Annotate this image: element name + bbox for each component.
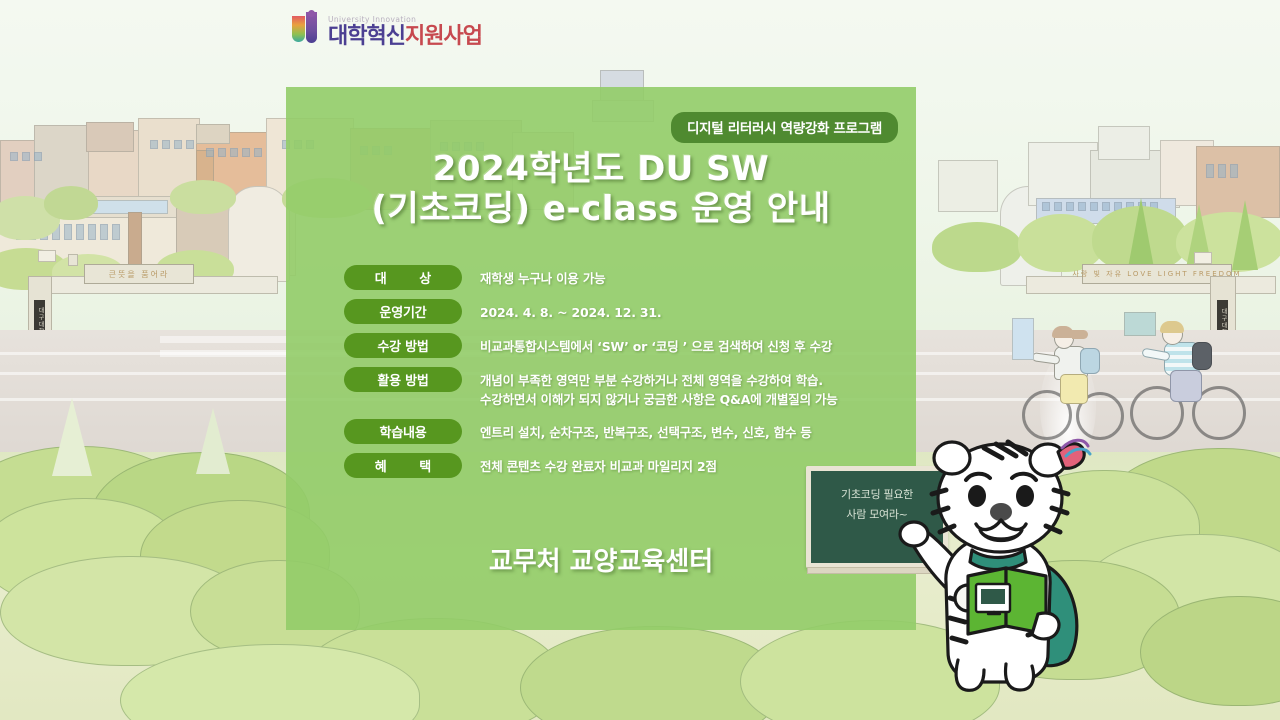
building: [196, 124, 230, 144]
info-row-value: 2024. 4. 8. ~ 2024. 12. 31.: [480, 299, 661, 322]
left-gate-sign-text: 큰뜻을 품어라: [109, 269, 170, 280]
cyclist-backpack: [1192, 342, 1212, 370]
info-row-value: 전체 콘텐츠 수강 완료자 비교과 마일리지 2점: [480, 453, 717, 476]
conifer-tree: [1232, 200, 1258, 270]
info-row-value: 개념이 부족한 영역만 부분 수강하거나 전체 영역을 수강하여 학습. 수강하…: [480, 367, 838, 410]
tiger-eye: [1016, 485, 1034, 507]
logo-mark-icon: [292, 12, 322, 48]
logo-text: University Innovation 대학혁신지원사업: [328, 16, 482, 49]
info-row-value: 엔트리 설치, 순차구조, 반복구조, 선택구조, 변수, 신호, 함수 등: [480, 419, 812, 442]
info-row-label: 혜 택: [344, 453, 462, 478]
university-innovation-logo: University Innovation 대학혁신지원사업: [292, 12, 482, 48]
info-row: 운영기간 2024. 4. 8. ~ 2024. 12. 31.: [344, 299, 904, 324]
building: [1028, 142, 1098, 206]
computer-screen: [981, 589, 1005, 604]
logo-u-shape: [292, 16, 305, 42]
tiger-ear: [934, 442, 970, 474]
cyclist-hair: [1160, 321, 1184, 333]
cyclist-backpack: [1080, 348, 1100, 374]
tiger-raised-paw: [900, 522, 928, 546]
building: [86, 122, 134, 152]
cyclist-with-ponytail: [1020, 318, 1140, 448]
tiger-eye: [968, 485, 986, 507]
conifer-tree: [196, 408, 230, 474]
logo-korean-text: 대학혁신지원사업: [328, 26, 482, 48]
tiger-nose: [990, 503, 1012, 521]
tree: [932, 222, 1022, 272]
tiger-mascot: [880, 438, 1110, 700]
logo-korean-primary: 대학혁신: [328, 24, 405, 49]
building: [1098, 126, 1150, 160]
window-row: [1206, 164, 1238, 178]
info-row: 수강 방법 비교과통합시스템에서 ‘SW’ or ‘코딩 ’ 으로 검색하여 신…: [344, 333, 904, 358]
cyclist-ponytail: [1072, 330, 1088, 339]
tree: [44, 186, 98, 220]
logo-dot: [308, 10, 315, 17]
tiger-holding-paw: [1032, 613, 1059, 639]
right-gate-lamp: [1194, 252, 1212, 264]
poster-canvas: 큰뜻을 품어라 대구대학교 사랑 빛 자유 LOVE LIGHT FREEDOM…: [0, 0, 1280, 720]
title-line-1: 2024학년도 DU SW: [433, 149, 769, 189]
info-row: 대 상 재학생 누구나 이용 가능: [344, 265, 904, 290]
window-row: [150, 140, 194, 149]
title-line-2: (기초코딩) e-class 운영 안내: [286, 189, 916, 229]
logo-korean-secondary: 지원사업: [405, 24, 482, 49]
cylindrical-building: [228, 186, 290, 282]
info-rows-list: 대 상 재학생 누구나 이용 가능 운영기간 2024. 4. 8. ~ 202…: [344, 265, 904, 478]
info-row-label: 수강 방법: [344, 333, 462, 358]
cyclist-hair: [1052, 326, 1074, 338]
info-row-value: 재학생 누구나 이용 가능: [480, 265, 605, 288]
cyclist-legs: [1060, 374, 1088, 404]
building: [938, 160, 998, 212]
conifer-tree: [52, 398, 92, 476]
building: [128, 212, 142, 270]
page-title: 2024학년도 DU SW (기초코딩) e-class 운영 안내: [286, 149, 916, 229]
info-row-label: 활용 방법: [344, 367, 462, 392]
cyclist-legs: [1170, 370, 1202, 402]
left-gate-sign-plate: 큰뜻을 품어라: [84, 264, 194, 284]
tiger-leg: [1006, 664, 1034, 690]
info-row-label: 학습내용: [344, 419, 462, 444]
logo-english-text: University Innovation: [328, 16, 482, 24]
info-row-label: 대 상: [344, 265, 462, 290]
tree: [170, 180, 236, 214]
left-gate-lamp: [38, 250, 56, 262]
info-row-label: 운영기간: [344, 299, 462, 324]
window-row: [206, 148, 262, 157]
conifer-tree: [1128, 198, 1154, 268]
program-badge: 디지털 리터러시 역량강화 프로그램: [671, 112, 898, 143]
notice-banner: [1012, 318, 1034, 360]
window-row: [10, 152, 42, 161]
notice-board: [1124, 312, 1156, 336]
info-row-value: 비교과통합시스템에서 ‘SW’ or ‘코딩 ’ 으로 검색하여 신청 후 수강: [480, 333, 832, 356]
info-row: 활용 방법 개념이 부족한 영역만 부분 수강하거나 전체 영역을 수강하여 학…: [344, 367, 904, 410]
info-row: 학습내용 엔트리 설치, 순차구조, 반복구조, 선택구조, 변수, 신호, 함…: [344, 419, 904, 444]
left-gate-post: [68, 254, 78, 266]
